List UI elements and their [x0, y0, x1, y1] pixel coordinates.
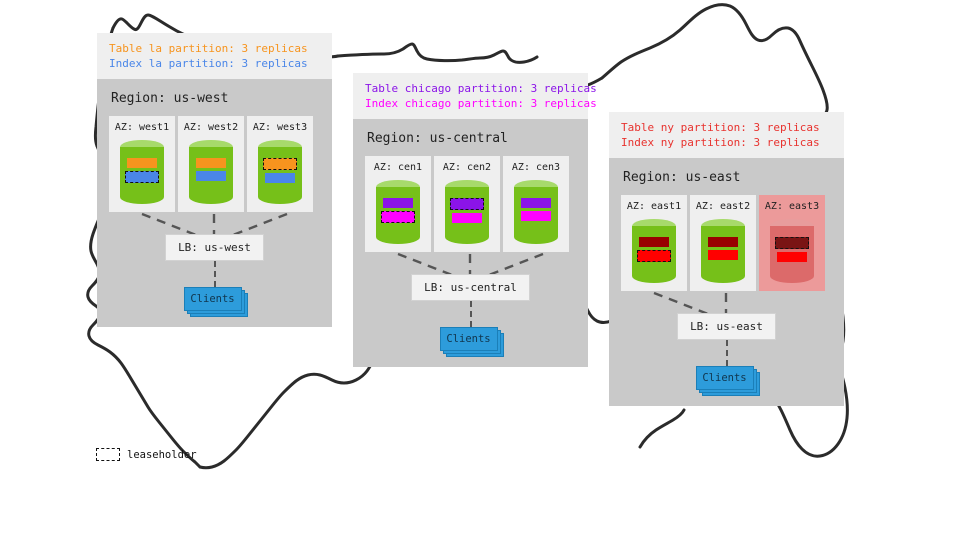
great-lakes-outline [338, 44, 480, 61]
partition-header-us-east: Table ny partition: 3 replicas Index ny … [609, 112, 844, 158]
lb-to-clients-line [470, 301, 472, 327]
replica-stack [701, 237, 745, 260]
load-balancer-us-east[interactable]: LB: us-east [677, 313, 776, 340]
node-cylinder[interactable] [514, 180, 558, 242]
clients-sheet-front: Clients [696, 366, 754, 390]
az-label: AZ: east3 [765, 201, 819, 212]
region-title: Region: us-west [111, 91, 320, 106]
node-cylinder[interactable] [120, 140, 164, 202]
lake-superior-michigan [480, 51, 537, 62]
clients-stack-us-central[interactable]: Clients [440, 327, 502, 353]
clients-stack-us-west[interactable]: Clients [184, 287, 246, 313]
region-title: Region: us-central [367, 131, 576, 146]
replica-table [127, 158, 157, 168]
region-box-us-central: Region: us-central AZ: cen1 AZ: cen2 [353, 119, 588, 367]
node-cylinder[interactable] [258, 140, 302, 202]
replica-stack [514, 198, 558, 221]
az-west3[interactable]: AZ: west3 [247, 116, 313, 212]
az-cen2[interactable]: AZ: cen2 [434, 156, 500, 252]
replica-stack [189, 158, 233, 181]
replica-stack [258, 158, 302, 183]
replica-index [265, 173, 295, 183]
az-row: AZ: cen1 AZ: cen2 [365, 156, 576, 252]
clients-wrap: Clients [365, 327, 576, 353]
az-cen1[interactable]: AZ: cen1 [365, 156, 431, 252]
az-label: AZ: west2 [184, 122, 238, 133]
clients-wrap: Clients [621, 366, 832, 392]
load-balancer-us-west[interactable]: LB: us-west [165, 234, 264, 261]
node-cylinder[interactable] [376, 180, 420, 242]
replica-table [639, 237, 669, 247]
partition-line-table: Table chicago partition: 3 replicas [365, 81, 578, 96]
louisiana-coast-detail [640, 410, 684, 447]
replica-index [196, 171, 226, 181]
partition-line-table: Table ny partition: 3 replicas [621, 120, 834, 135]
node-cylinder[interactable] [189, 140, 233, 202]
load-balancer-us-central[interactable]: LB: us-central [411, 274, 530, 301]
region-box-us-west: Region: us-west AZ: west1 AZ: west2 [97, 79, 332, 327]
dashed-rect-icon [96, 448, 120, 461]
az-label: AZ: west1 [115, 122, 169, 133]
partition-line-table: Table la partition: 3 replicas [109, 41, 322, 56]
az-east3-failed[interactable]: AZ: east3 [759, 195, 825, 291]
replica-stack [632, 237, 676, 262]
node-cylinder[interactable] [445, 180, 489, 242]
replica-table [383, 198, 413, 208]
replica-index [452, 213, 482, 223]
replica-stack [376, 198, 420, 223]
replica-table [196, 158, 226, 168]
region-cluster-us-east: Table ny partition: 3 replicas Index ny … [609, 112, 844, 406]
replica-index-leaseholder [637, 250, 671, 262]
az-east1[interactable]: AZ: east1 [621, 195, 687, 291]
az-label: AZ: east2 [696, 201, 750, 212]
replica-table-leaseholder [450, 198, 484, 210]
az-row: AZ: west1 AZ: west2 [109, 116, 320, 212]
node-cylinder-down[interactable] [770, 219, 814, 281]
az-label: AZ: cen2 [443, 162, 491, 173]
replica-index [777, 252, 807, 262]
legend: leaseholder [96, 448, 197, 461]
region-box-us-east: Region: us-east AZ: east1 AZ: east2 [609, 158, 844, 406]
node-cylinder[interactable] [701, 219, 745, 281]
replica-stack [770, 237, 814, 262]
az-east2[interactable]: AZ: east2 [690, 195, 756, 291]
partition-line-index: Index la partition: 3 replicas [109, 56, 322, 71]
clients-wrap: Clients [109, 287, 320, 313]
partition-line-index: Index chicago partition: 3 replicas [365, 96, 578, 111]
lb-to-clients-line [726, 340, 728, 366]
az-label: AZ: east1 [627, 201, 681, 212]
az-row: AZ: east1 AZ: east2 [621, 195, 832, 291]
replica-table-leaseholder [775, 237, 809, 249]
clients-stack-us-east[interactable]: Clients [696, 366, 758, 392]
replica-table [708, 237, 738, 247]
az-cen3[interactable]: AZ: cen3 [503, 156, 569, 252]
replica-index-leaseholder [125, 171, 159, 183]
replica-table [521, 198, 551, 208]
partition-header-us-central: Table chicago partition: 3 replicas Inde… [353, 73, 588, 119]
region-title: Region: us-east [623, 170, 832, 185]
legend-label: leaseholder [127, 449, 197, 461]
clients-label: Clients [702, 372, 746, 384]
replica-table-leaseholder [263, 158, 297, 170]
partition-header-us-west: Table la partition: 3 replicas Index la … [97, 33, 332, 79]
replica-stack [120, 158, 164, 183]
az-label: AZ: cen1 [374, 162, 422, 173]
clients-sheet-front: Clients [440, 327, 498, 351]
clients-sheet-front: Clients [184, 287, 242, 311]
region-cluster-us-central: Table chicago partition: 3 replicas Inde… [353, 73, 588, 367]
region-cluster-us-west: Table la partition: 3 replicas Index la … [97, 33, 332, 327]
lb-to-clients-line [214, 261, 216, 287]
az-west1[interactable]: AZ: west1 [109, 116, 175, 212]
replica-index-leaseholder [381, 211, 415, 223]
replica-stack [445, 198, 489, 223]
clients-label: Clients [446, 333, 490, 345]
clients-label: Clients [190, 293, 234, 305]
az-label: AZ: cen3 [512, 162, 560, 173]
az-west2[interactable]: AZ: west2 [178, 116, 244, 212]
replica-index [708, 250, 738, 260]
node-cylinder[interactable] [632, 219, 676, 281]
partition-line-index: Index ny partition: 3 replicas [621, 135, 834, 150]
replica-index [521, 211, 551, 221]
az-label: AZ: west3 [253, 122, 307, 133]
